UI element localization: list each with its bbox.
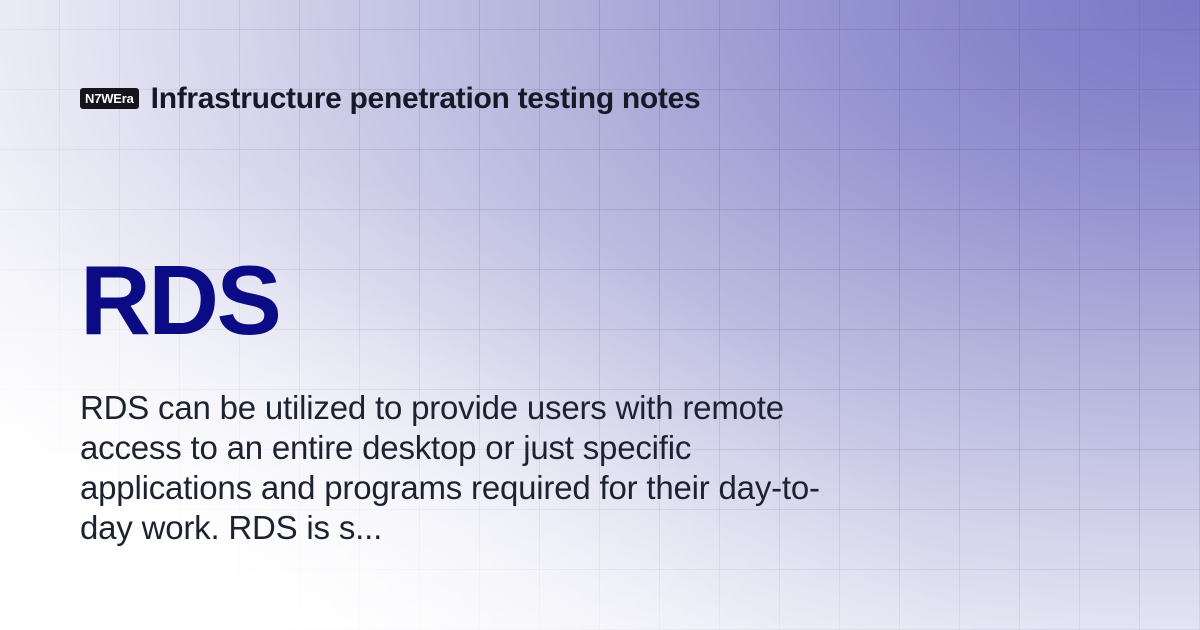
brand-logo-badge: N7WEra: [80, 88, 139, 109]
open-graph-card: N7WEra Infrastructure penetration testin…: [0, 0, 1200, 630]
card-content: N7WEra Infrastructure penetration testin…: [0, 0, 1200, 630]
page-title: RDS: [80, 251, 279, 349]
site-title: Infrastructure penetration testing notes: [151, 82, 701, 115]
page-excerpt: RDS can be utilized to provide users wit…: [80, 388, 850, 548]
card-header: N7WEra Infrastructure penetration testin…: [80, 82, 700, 115]
